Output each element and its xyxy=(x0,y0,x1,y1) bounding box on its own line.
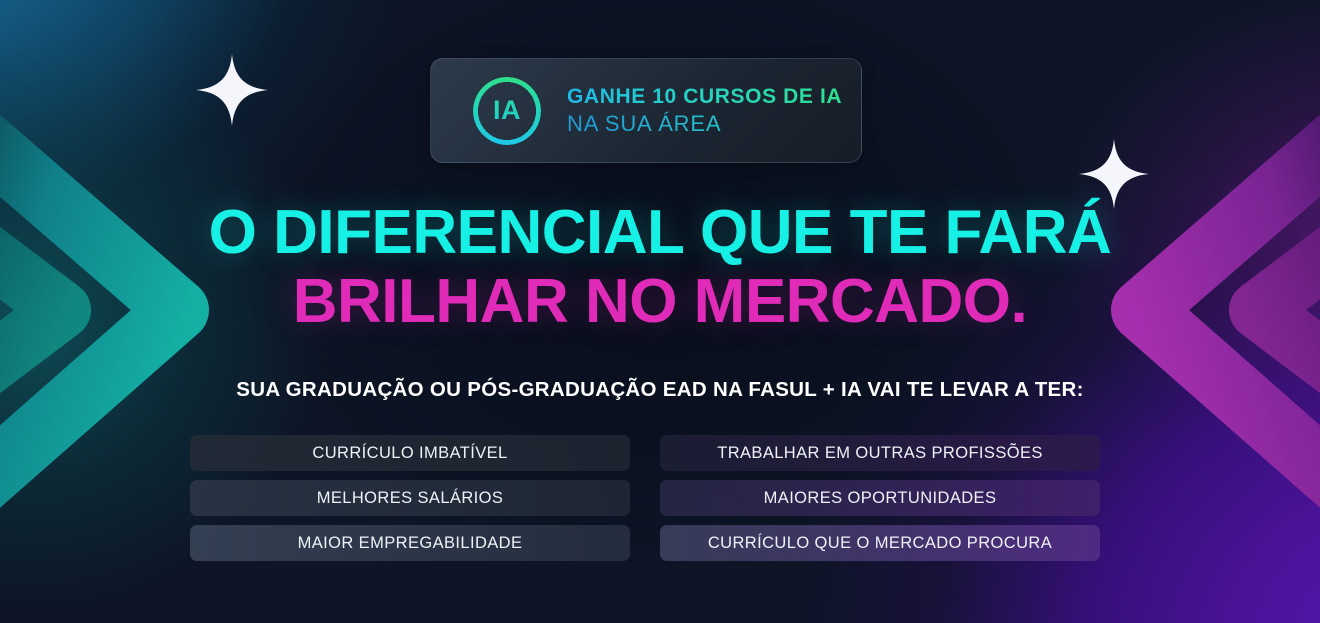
sparkle-star-left xyxy=(196,54,268,126)
ia-circle-icon: IA xyxy=(473,77,541,145)
subheading: SUA GRADUAÇÃO OU PÓS-GRADUAÇÃO EAD NA FA… xyxy=(0,378,1320,402)
main-headline: O DIFERENCIAL QUE TE FARÁ BRILHAR NO MER… xyxy=(0,198,1320,337)
ia-logo-text: IA xyxy=(473,77,541,145)
ai-courses-badge: IA GANHE 10 CURSOS DE IA NA SUA ÁREA xyxy=(430,58,862,163)
benefit-pill: MAIOR EMPREGABILIDADE xyxy=(190,525,630,561)
benefit-pill: TRABALHAR EM OUTRAS PROFISSÕES xyxy=(660,435,1100,471)
benefit-pill: CURRÍCULO IMBATÍVEL xyxy=(190,435,630,471)
benefit-pill: MAIORES OPORTUNIDADES xyxy=(660,480,1100,516)
badge-text-block: GANHE 10 CURSOS DE IA NA SUA ÁREA xyxy=(567,85,842,137)
benefit-pill: CURRÍCULO QUE O MERCADO PROCURA xyxy=(660,525,1100,561)
promo-banner: IA GANHE 10 CURSOS DE IA NA SUA ÁREA O D… xyxy=(0,0,1320,623)
badge-subline: NA SUA ÁREA xyxy=(567,111,842,137)
benefit-pill: MELHORES SALÁRIOS xyxy=(190,480,630,516)
headline-line-2: BRILHAR NO MERCADO. xyxy=(0,267,1320,336)
headline-line-1: O DIFERENCIAL QUE TE FARÁ xyxy=(0,198,1320,267)
badge-headline: GANHE 10 CURSOS DE IA xyxy=(567,85,842,109)
benefits-grid: CURRÍCULO IMBATÍVEL TRABALHAR EM OUTRAS … xyxy=(190,435,1100,561)
